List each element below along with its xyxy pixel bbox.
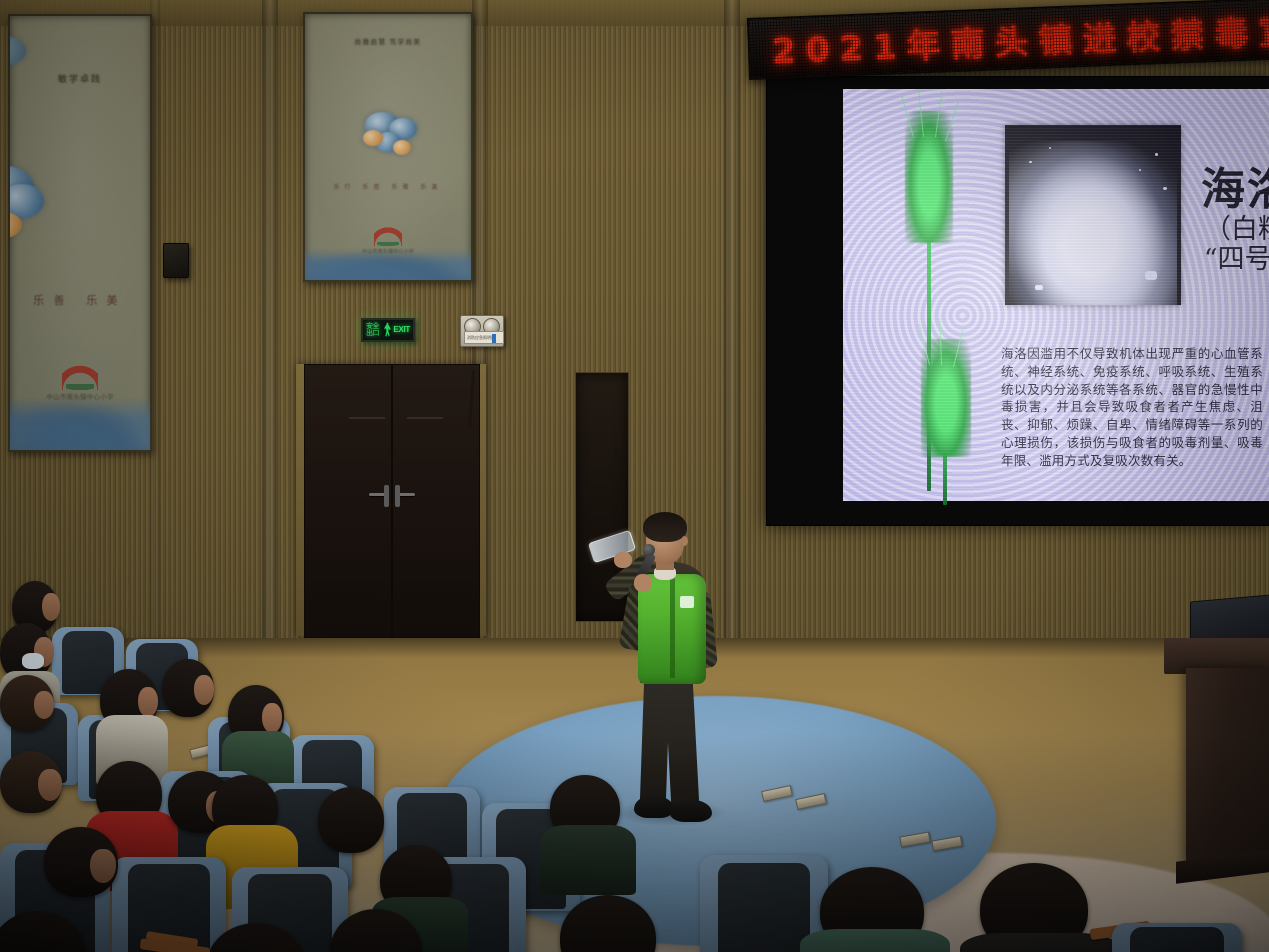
audience-head: [44, 827, 118, 897]
poster-right-mid-text: 乐行 乐思 乐雅 乐美: [305, 182, 471, 191]
slide-subtitle: （白粉、 “四号”）: [1183, 215, 1269, 275]
exit-sign: 安全出口 EXIT: [361, 318, 415, 342]
wall-speaker-icon: [163, 243, 189, 278]
audience-body-teal: [800, 929, 950, 952]
door-groove: [349, 417, 385, 419]
door-escutcheon: [384, 485, 389, 507]
seat-cushion: [1130, 927, 1224, 952]
powder-speck: [1029, 161, 1032, 163]
audience-face: [38, 769, 62, 801]
audience-area: [0, 575, 1269, 952]
powder-speck: [1139, 169, 1141, 171]
slide-subtitle-line2: “四号”）: [1183, 245, 1269, 275]
poster-wave-decoration: [303, 242, 473, 282]
running-man-icon: [384, 323, 392, 338]
cloud-motif-icon: [363, 130, 383, 146]
powder-mound: [1009, 141, 1177, 305]
emergency-light: 消防应急照明灯: [460, 315, 504, 347]
audience-face: [90, 849, 116, 883]
seat[interactable]: [1112, 923, 1242, 952]
door-escutcheon: [395, 485, 400, 507]
presentation-slide: 海洛因 （白粉、 “四号”） 海洛因滥用不仅导致机体出现严重的心血管系统、神经系…: [843, 89, 1269, 501]
seat-cushion: [718, 863, 810, 952]
audience-face: [262, 703, 282, 733]
slide-body-text: 海洛因滥用不仅导致机体出现严重的心血管系统、神经系统、免疫系统、呼吸系统、生殖系…: [1001, 345, 1263, 469]
wall-poster-right: 尚雅启慧 笃学尚美 乐行 乐思 乐雅 乐美 中山市南头镇中心小学: [303, 12, 473, 282]
powder-speck: [1035, 285, 1043, 290]
emergency-led-icon: [492, 334, 496, 343]
cloud-motif-icon: [8, 184, 44, 218]
audience-face: [34, 691, 54, 719]
audience-face: [194, 675, 214, 705]
door-groove: [407, 417, 443, 419]
powder-speck: [1155, 153, 1158, 156]
poster-left-top-text: 敏学卓践: [10, 72, 150, 85]
powder-speck: [1163, 187, 1167, 190]
cloud-motif-icon: [8, 36, 26, 66]
auditorium-scene: 敏学卓践 乐善 乐美 中山市南头镇中心小学 尚雅启慧 笃学尚美 乐行 乐思 乐雅…: [0, 0, 1269, 952]
audience-body: [540, 825, 636, 895]
powder-speck: [1049, 147, 1051, 149]
door-handle-right[interactable]: [399, 493, 415, 496]
presenter-hair: [643, 512, 687, 542]
cloud-motif-icon: [393, 140, 411, 155]
poster-wave-decoration: [8, 386, 152, 452]
microphone-head: [643, 544, 655, 556]
audience-face: [42, 593, 60, 621]
slide-title: 海洛因: [1201, 153, 1269, 217]
face-mask: [22, 653, 44, 669]
presenter-hand-left: [614, 552, 632, 568]
poster-right-top-text: 尚雅启慧 笃学尚美: [305, 36, 471, 46]
poster-left-mid-text: 乐善 乐美: [10, 292, 150, 308]
drug-photo: [1005, 125, 1181, 305]
wheat-head-icon: [921, 339, 971, 457]
audience-face: [138, 687, 158, 717]
emergency-light-label: 消防应急照明灯: [464, 331, 504, 344]
audience-head: [0, 751, 62, 813]
projection-screen: 海洛因 （白粉、 “四号”） 海洛因滥用不仅导致机体出现严重的心血管系统、神经系…: [766, 76, 1269, 526]
audience-head: [0, 675, 54, 731]
wall-poster-left: 敏学卓践 乐善 乐美 中山市南头镇中心小学: [8, 14, 152, 452]
exit-sign-cn-label: 安全出口: [366, 323, 382, 337]
slide-subtitle-line1: （白粉、: [1183, 215, 1269, 245]
powder-speck: [1145, 271, 1157, 280]
audience-head: [318, 787, 384, 853]
door-handle-left[interactable]: [369, 493, 385, 496]
exit-sign-en-label: EXIT: [393, 326, 410, 334]
presenter-ear: [681, 536, 688, 546]
audience-head: [162, 659, 214, 717]
